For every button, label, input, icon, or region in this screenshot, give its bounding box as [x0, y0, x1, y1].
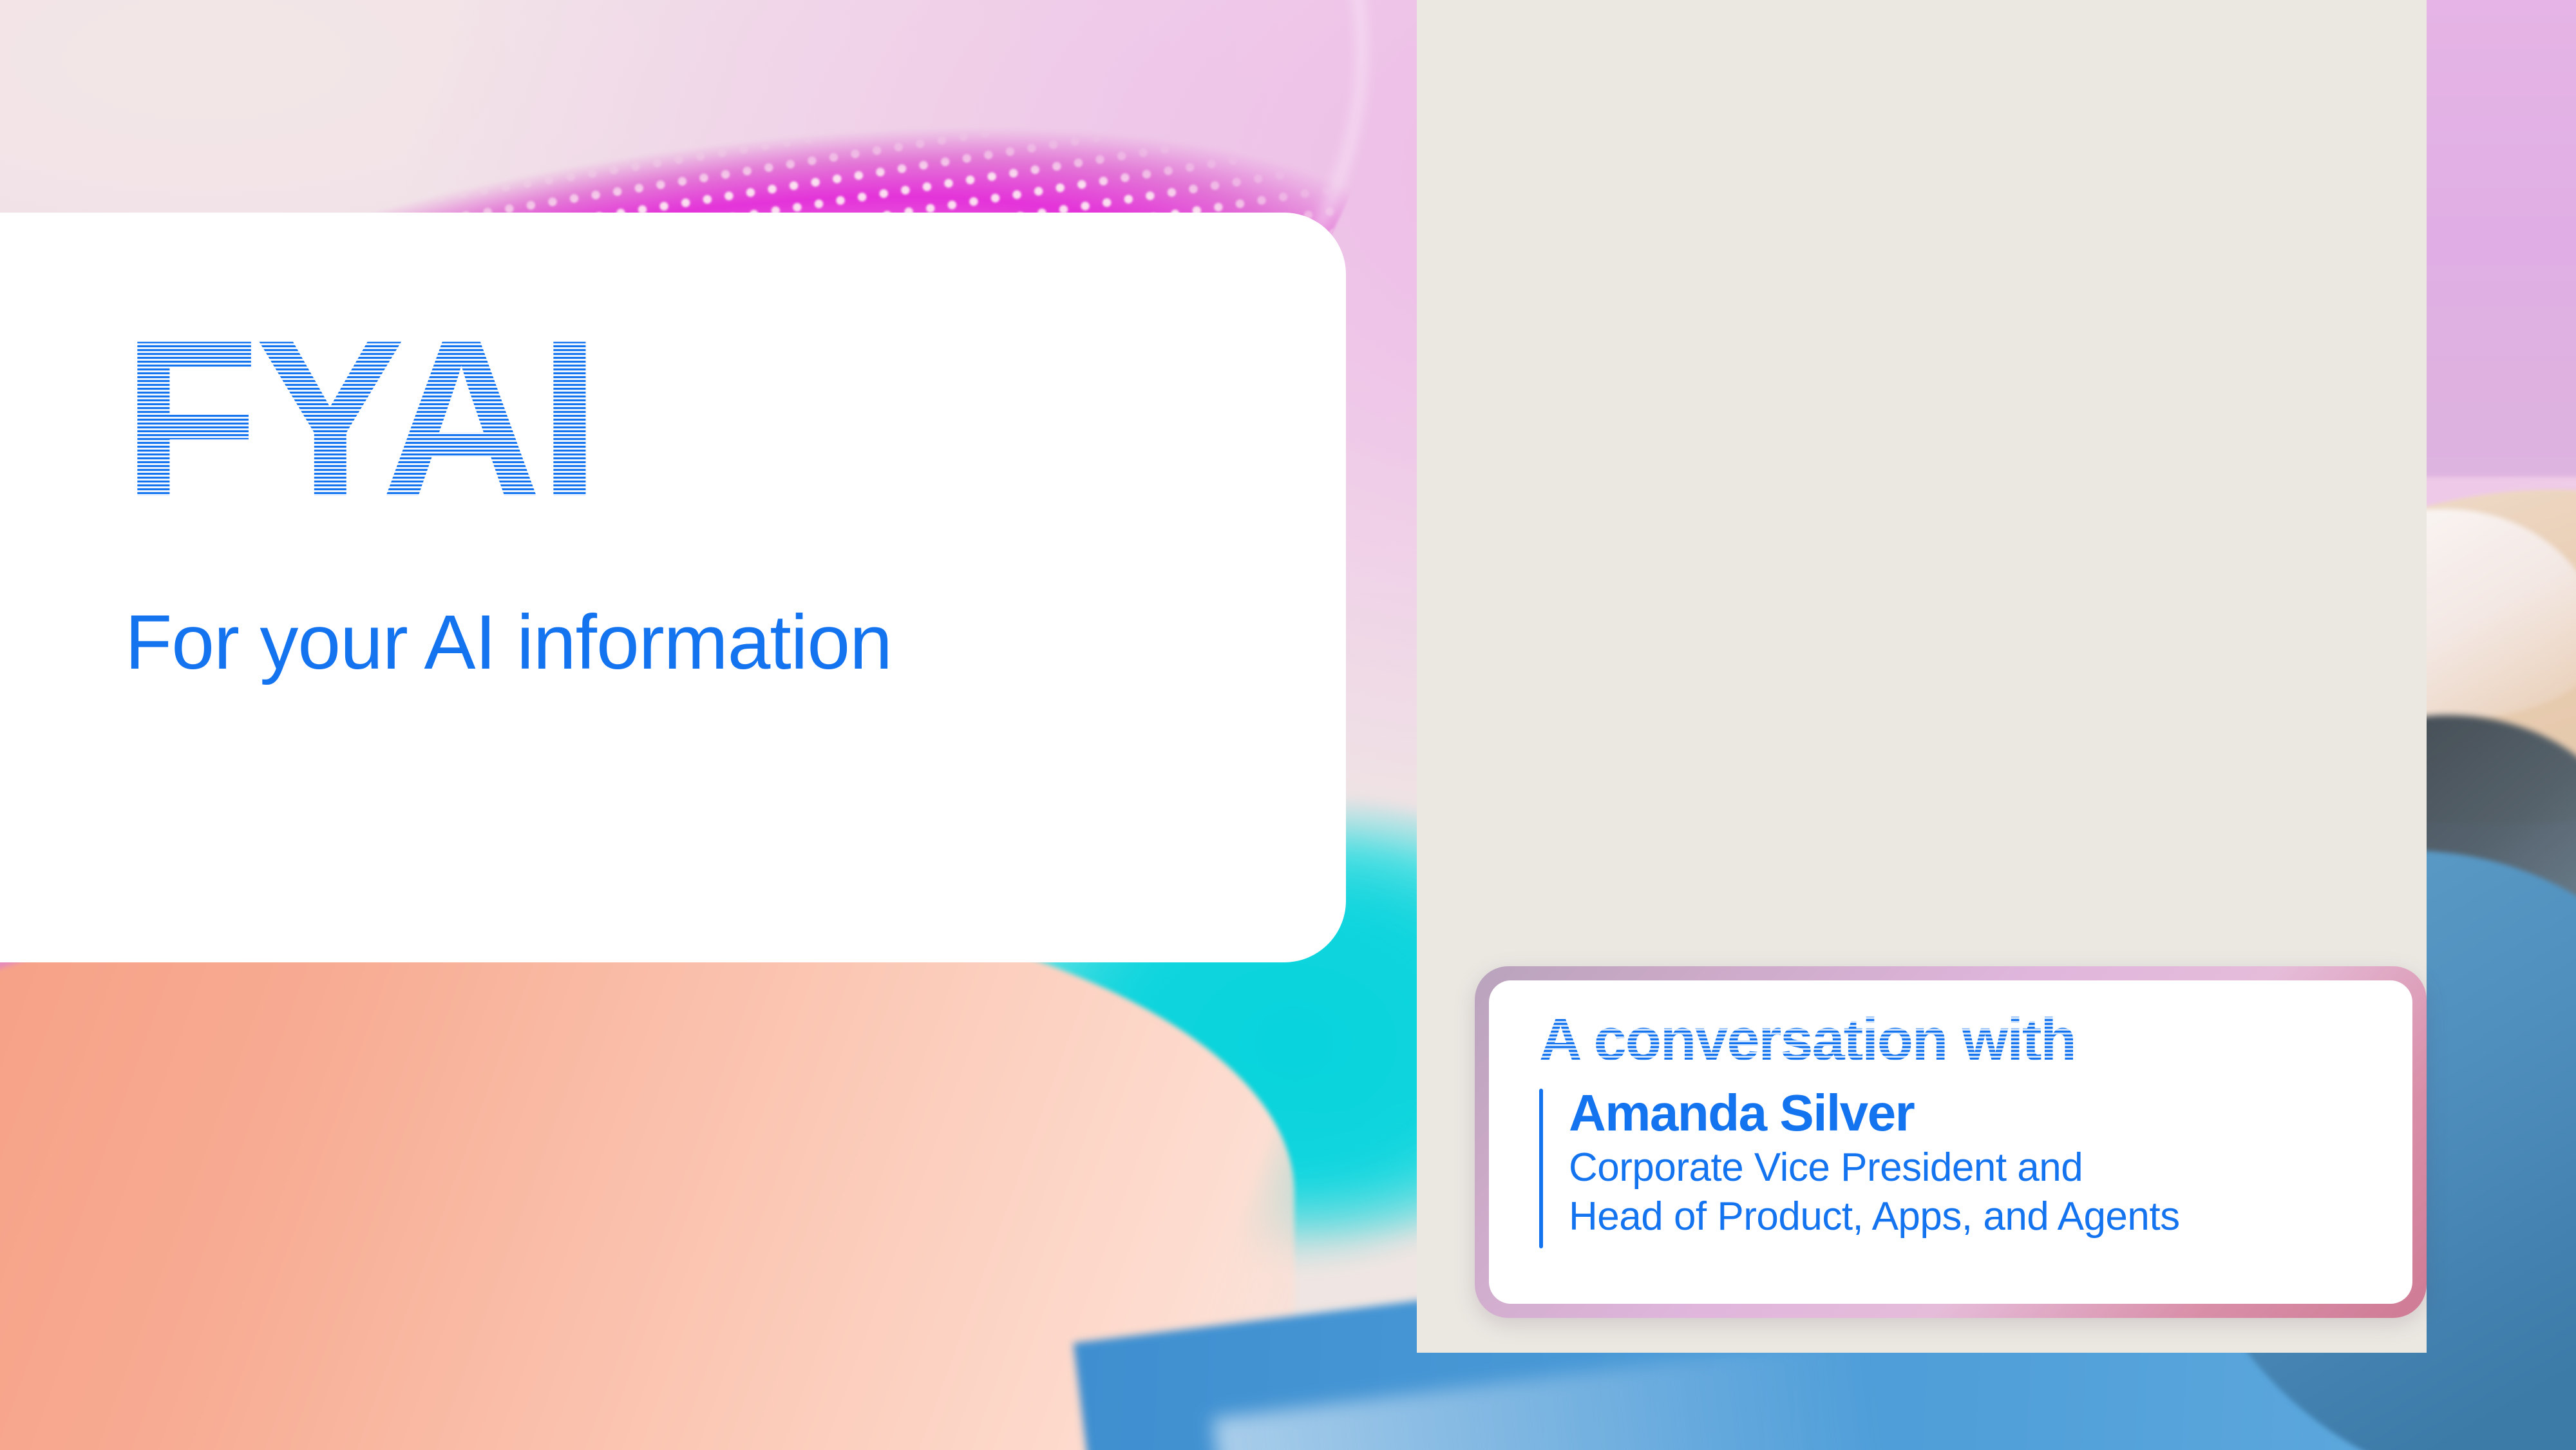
fyai-logo-text: FYAI: [122, 293, 597, 544]
speaker-card: A conversation with Amanda Silver Corpor…: [1475, 966, 2427, 1318]
fyai-logo-text-wrapper: FYAI FYAI: [122, 316, 597, 522]
speaker-title-line-2: Head of Product, Apps, and Agents: [1569, 1192, 2375, 1241]
fyai-tagline: For your AI information: [125, 598, 892, 687]
banner-stage: FYAI FYAI For your AI information A conv…: [0, 0, 2576, 1450]
speaker-card-inner: A conversation with Amanda Silver Corpor…: [1489, 980, 2412, 1304]
vertical-divider: [1539, 1089, 1543, 1248]
conversation-heading-wrapper: A conversation with: [1539, 1010, 2076, 1069]
fyai-logo: FYAI FYAI: [122, 316, 597, 522]
speaker-details: Amanda Silver Corporate Vice President a…: [1539, 1086, 2375, 1241]
logo-card: FYAI FYAI For your AI information: [0, 213, 1346, 962]
logo-card-content: FYAI FYAI For your AI information: [0, 213, 1346, 962]
speaker-name: Amanda Silver: [1569, 1086, 2375, 1140]
speaker-title-line-1: Corporate Vice President and: [1569, 1143, 2375, 1192]
conversation-heading: A conversation with: [1539, 1007, 2076, 1073]
